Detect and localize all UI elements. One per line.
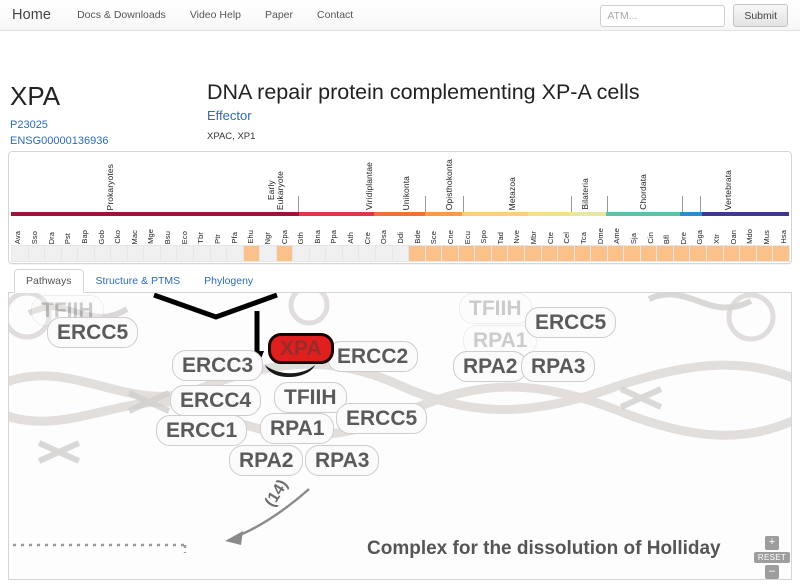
species-abbr[interactable]: Gga bbox=[695, 230, 704, 244]
clade-label: Chordata bbox=[639, 174, 648, 210]
conservation-cell[interactable] bbox=[408, 245, 426, 262]
tab-pathways[interactable]: Pathways bbox=[14, 269, 84, 294]
spectrum-segment bbox=[528, 212, 570, 216]
spectrum-segment bbox=[570, 212, 606, 216]
pathway-node-tfiih[interactable]: TFIIH bbox=[274, 382, 347, 413]
conservation-cell[interactable] bbox=[640, 245, 658, 262]
phylogeny-spectrum-bar bbox=[11, 212, 789, 216]
pathway-node-rpa2[interactable]: RPA2 bbox=[229, 445, 303, 476]
pathway-node-ercc5[interactable]: ERCC5 bbox=[525, 307, 616, 338]
clade-label-row: ProkaryotesEarly EukaryoteViridiplantaeU… bbox=[9, 152, 791, 212]
species-abbr[interactable]: Cin bbox=[646, 232, 655, 244]
pathway-node-rpa3[interactable]: RPA3 bbox=[521, 351, 595, 382]
tab-phylogeny[interactable]: Phylogeny bbox=[192, 269, 265, 294]
species-abbr[interactable]: Mac bbox=[130, 230, 139, 244]
conservation-cell[interactable] bbox=[507, 245, 525, 262]
species-abbr[interactable]: Ath bbox=[346, 232, 355, 244]
phylogeny-strip: ProkaryotesEarly EukaryoteViridiplantaeU… bbox=[8, 151, 792, 264]
zoom-controls: + RESET – bbox=[752, 536, 792, 579]
nav-link-docs[interactable]: Docs & Downloads bbox=[77, 9, 166, 21]
conservation-cell[interactable] bbox=[723, 245, 741, 262]
clade-label: Bilateria bbox=[581, 178, 590, 210]
species-abbr[interactable]: Ptr bbox=[213, 234, 222, 244]
species-abbr[interactable]: Cpa bbox=[280, 230, 289, 244]
clade-tick bbox=[607, 196, 608, 212]
conservation-cell[interactable] bbox=[259, 245, 277, 262]
conservation-cell[interactable] bbox=[127, 245, 145, 262]
uniprot-accession-link[interactable]: P23025 bbox=[10, 118, 108, 134]
conservation-cell[interactable] bbox=[210, 245, 228, 262]
species-abbr[interactable]: Ecu bbox=[463, 231, 472, 244]
conservation-cell[interactable] bbox=[309, 245, 327, 262]
nav-link-contact[interactable]: Contact bbox=[317, 9, 353, 21]
clade-tick bbox=[298, 196, 299, 212]
complex-caption: Complex for the dissolution of Holliday bbox=[367, 538, 797, 560]
species-abbr[interactable]: Tca bbox=[579, 232, 588, 244]
nav-search-group: Submit bbox=[600, 4, 788, 27]
zoom-reset-button[interactable]: RESET bbox=[754, 552, 790, 563]
conservation-cell[interactable] bbox=[276, 245, 294, 262]
species-abbr[interactable]: Sso bbox=[30, 231, 39, 244]
species-abbr[interactable]: Sce bbox=[429, 231, 438, 244]
clade-label: Vertebrata bbox=[724, 170, 733, 210]
conservation-cell[interactable] bbox=[574, 245, 592, 262]
protein-header: XPA P23025 ENSG00000136936 DNA repair pr… bbox=[0, 31, 800, 141]
species-abbr[interactable]: Ehu bbox=[246, 230, 255, 244]
clade-label: Viridiplantae bbox=[365, 162, 374, 210]
protein-full-name: DNA repair protein complementing XP-A ce… bbox=[207, 81, 790, 105]
species-abbr[interactable]: Cel bbox=[562, 232, 571, 244]
species-abbr[interactable]: Pst bbox=[63, 233, 72, 244]
protein-role: Effector bbox=[207, 108, 790, 123]
conservation-cell[interactable] bbox=[226, 245, 244, 262]
conservation-cell[interactable] bbox=[689, 245, 707, 262]
conservation-cell[interactable] bbox=[160, 245, 178, 262]
conservation-cell[interactable] bbox=[77, 245, 95, 262]
spectrum-segment bbox=[462, 212, 528, 216]
conservation-cell[interactable] bbox=[756, 245, 774, 262]
conservation-cell[interactable] bbox=[325, 245, 343, 262]
species-abbr[interactable]: Ava bbox=[13, 231, 22, 244]
pathway-diagram-panel[interactable]: (14) TFIIHERCC5TFIIHRPA1ERCC5RPA2RPA3XPA… bbox=[8, 293, 792, 580]
species-abbr[interactable]: Spo bbox=[479, 230, 488, 244]
species-abbr[interactable]: Osa bbox=[379, 230, 388, 244]
search-input[interactable] bbox=[600, 5, 725, 27]
clade-tick bbox=[425, 196, 426, 212]
pathway-node-rpa2[interactable]: RPA2 bbox=[453, 351, 527, 382]
clade-tick bbox=[791, 196, 792, 212]
zoom-in-button[interactable]: + bbox=[765, 536, 779, 550]
species-abbr[interactable]: Mbr bbox=[529, 231, 538, 244]
nav-brand-home[interactable]: Home bbox=[12, 7, 51, 23]
species-abbr[interactable]: Dme bbox=[596, 228, 605, 244]
conservation-cell-row bbox=[11, 245, 789, 262]
species-abbr[interactable]: Hsa bbox=[779, 230, 788, 244]
conservation-cell[interactable] bbox=[292, 245, 310, 262]
conservation-cell[interactable] bbox=[474, 245, 492, 262]
species-abbr[interactable]: Cre bbox=[363, 232, 372, 244]
species-abbr[interactable]: Dre bbox=[679, 232, 688, 244]
pathway-node-tfiih[interactable]: TFIIH bbox=[459, 293, 532, 324]
species-abbr[interactable]: Mdo bbox=[745, 229, 754, 244]
species-abbr[interactable]: Bap bbox=[80, 230, 89, 244]
pathway-node-ercc5[interactable]: ERCC5 bbox=[47, 317, 138, 348]
species-abbr[interactable]: Xtr bbox=[712, 234, 721, 244]
species-abbr[interactable]: Bfl bbox=[662, 235, 671, 244]
species-abbr[interactable]: Oan bbox=[729, 230, 738, 244]
conservation-cell[interactable] bbox=[61, 245, 79, 262]
species-abbr[interactable]: Bde bbox=[413, 230, 422, 244]
spectrum-segment bbox=[425, 212, 462, 216]
conservation-cell[interactable] bbox=[110, 245, 128, 262]
species-abbr[interactable]: Cne bbox=[446, 230, 455, 244]
conservation-cell[interactable] bbox=[425, 245, 443, 262]
clade-tick bbox=[463, 196, 464, 212]
conservation-cell[interactable] bbox=[94, 245, 112, 262]
species-abbr[interactable]: Tad bbox=[496, 232, 505, 244]
conservation-cell[interactable] bbox=[673, 245, 691, 262]
gene-symbol: XPA bbox=[10, 83, 108, 109]
conservation-cell[interactable] bbox=[11, 245, 29, 262]
conservation-cell[interactable] bbox=[656, 245, 674, 262]
conservation-cell[interactable] bbox=[557, 245, 575, 262]
clade-tick bbox=[682, 196, 683, 212]
conservation-cell[interactable] bbox=[739, 245, 757, 262]
species-abbr[interactable]: Pfa bbox=[230, 232, 239, 244]
species-abbr[interactable]: Mus bbox=[762, 230, 771, 244]
pathway-node-ercc2[interactable]: ERCC2 bbox=[327, 341, 418, 372]
species-abbr[interactable]: Gob bbox=[97, 230, 106, 244]
clade-label: Opisthokonta bbox=[445, 159, 454, 210]
species-abbr[interactable]: Gth bbox=[296, 232, 305, 244]
conservation-cell[interactable] bbox=[541, 245, 559, 262]
species-abbr[interactable]: Eco bbox=[180, 231, 189, 244]
clade-label: Early Eukaryote bbox=[267, 171, 285, 210]
conservation-cell[interactable] bbox=[358, 245, 376, 262]
conservation-cell[interactable] bbox=[176, 245, 194, 262]
conservation-cell[interactable] bbox=[524, 245, 542, 262]
species-abbr[interactable]: Bna bbox=[313, 230, 322, 244]
conservation-cell[interactable] bbox=[441, 245, 459, 262]
conservation-cell[interactable] bbox=[772, 245, 790, 262]
spectrum-segment bbox=[702, 212, 789, 216]
clade-label: Prokaryotes bbox=[106, 164, 115, 210]
conservation-cell[interactable] bbox=[28, 245, 46, 262]
species-abbr[interactable]: Dra bbox=[47, 232, 56, 244]
conservation-cell[interactable] bbox=[193, 245, 211, 262]
species-abbr[interactable]: Ngr bbox=[263, 232, 272, 244]
species-abbreviation-row: AvaSsoDraPstBapGobCkoMacMgeBsuEcoTbrPtrP… bbox=[9, 217, 791, 245]
species-abbr[interactable]: Tbr bbox=[196, 232, 205, 244]
species-abbr[interactable]: Cko bbox=[113, 230, 122, 244]
ensembl-accession-link[interactable]: ENSG00000136936 bbox=[10, 134, 108, 150]
pathway-node-ercc5[interactable]: ERCC5 bbox=[336, 403, 427, 434]
clade-tick bbox=[571, 196, 572, 212]
conservation-cell[interactable] bbox=[375, 245, 393, 262]
gene-identity-block: XPA P23025 ENSG00000136936 bbox=[10, 83, 108, 150]
tab-structure-ptms[interactable]: Structure & PTMS bbox=[84, 269, 193, 294]
zoom-out-button[interactable]: – bbox=[765, 565, 779, 579]
pathway-node-ercc3[interactable]: ERCC3 bbox=[172, 350, 263, 381]
pathway-node-xpa[interactable]: XPA bbox=[268, 333, 334, 364]
content-tabs: PathwaysStructure & PTMSPhylogeny bbox=[8, 267, 792, 293]
spectrum-segment bbox=[606, 212, 680, 216]
clade-label: Metazoa bbox=[508, 177, 517, 210]
species-abbr[interactable]: Ddi bbox=[396, 232, 405, 244]
conservation-cell[interactable] bbox=[623, 245, 641, 262]
species-abbr[interactable]: Sja bbox=[629, 233, 638, 244]
pathway-node-ercc1[interactable]: ERCC1 bbox=[156, 415, 247, 446]
clade-label: Unikonta bbox=[402, 176, 411, 210]
conservation-cell[interactable] bbox=[143, 245, 161, 262]
conservation-cell[interactable] bbox=[243, 245, 261, 262]
conservation-cell[interactable] bbox=[706, 245, 724, 262]
conservation-cell[interactable] bbox=[607, 245, 625, 262]
nav-link-video-help[interactable]: Video Help bbox=[190, 9, 241, 21]
nav-links: Docs & Downloads Video Help Paper Contac… bbox=[77, 9, 353, 21]
conservation-cell[interactable] bbox=[458, 245, 476, 262]
conservation-cell[interactable] bbox=[392, 245, 410, 262]
pathway-node-rpa3[interactable]: RPA3 bbox=[305, 445, 379, 476]
conservation-cell[interactable] bbox=[491, 245, 509, 262]
submit-button[interactable]: Submit bbox=[733, 4, 788, 27]
species-abbr[interactable]: Ame bbox=[612, 228, 621, 244]
spectrum-segment bbox=[374, 212, 425, 216]
species-abbr[interactable]: Mge bbox=[146, 229, 155, 244]
species-abbr[interactable]: Ppa bbox=[329, 230, 338, 244]
pathway-node-ercc4[interactable]: ERCC4 bbox=[170, 385, 261, 416]
pathway-node-rpa1[interactable]: RPA1 bbox=[260, 413, 334, 444]
species-abbr[interactable]: Nve bbox=[512, 230, 521, 244]
species-abbr[interactable]: Bsu bbox=[163, 231, 172, 244]
protein-aliases: XPAC, XP1 bbox=[207, 131, 790, 142]
conservation-cell[interactable] bbox=[590, 245, 608, 262]
spectrum-segment bbox=[299, 212, 374, 216]
species-abbr[interactable]: Cte bbox=[546, 232, 555, 244]
conservation-cell[interactable] bbox=[44, 245, 62, 262]
conservation-cell[interactable] bbox=[342, 245, 360, 262]
top-navbar: Home Docs & Downloads Video Help Paper C… bbox=[0, 0, 800, 31]
clade-tick bbox=[700, 196, 701, 212]
spectrum-segment bbox=[680, 212, 702, 216]
nav-link-paper[interactable]: Paper bbox=[265, 9, 293, 21]
spectrum-segment bbox=[11, 212, 299, 216]
